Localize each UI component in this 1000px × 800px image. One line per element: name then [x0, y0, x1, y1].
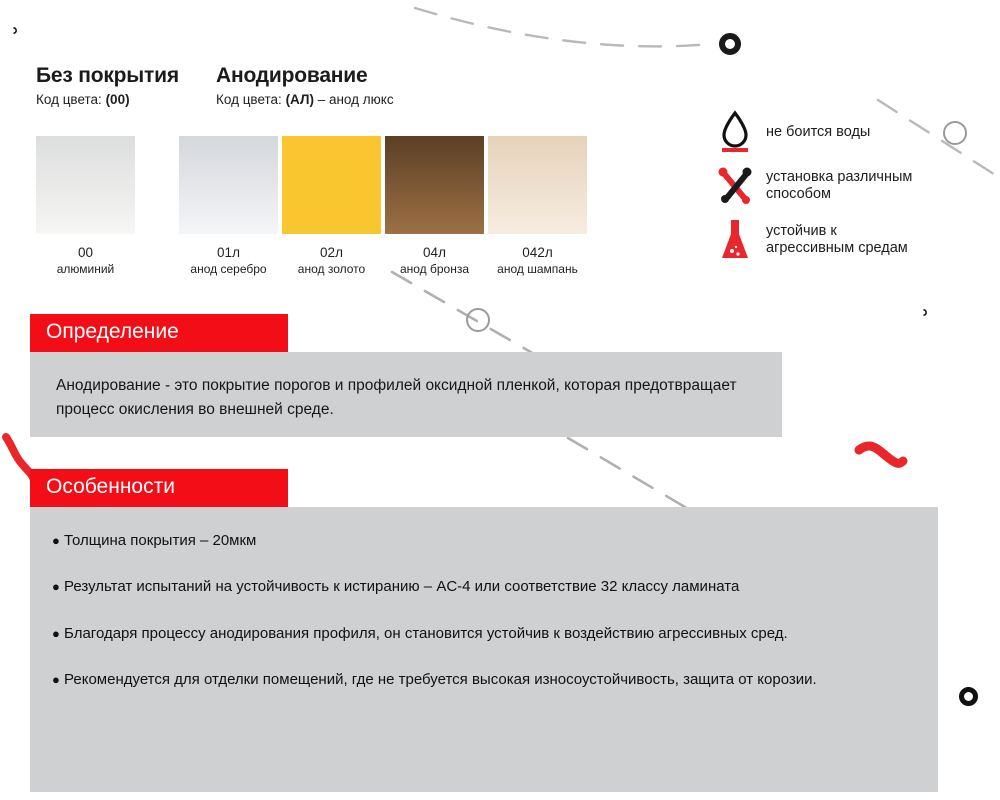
water-drop-icon [712, 110, 758, 154]
feature-bullet-text: Результат испытаний на устойчивость к ис… [64, 578, 739, 595]
swatch-code: 00 [36, 245, 135, 262]
swatch-name: алюминий [36, 262, 135, 278]
page-title-uncoated: Без покрытия [36, 64, 216, 88]
swatch-item[interactable]: 02л анод золото [282, 136, 381, 277]
decor-ring-bottom-right [959, 687, 978, 706]
infographic-page: ʾ ʾ Без покрытия Код цвета: (00) Анодиро… [0, 0, 1000, 800]
feature-bullet: ● Благодаря процессу анодирования профил… [52, 622, 916, 646]
swatch-chip-00[interactable] [36, 136, 135, 234]
swatch-name: анод бронза [385, 262, 484, 278]
feature-label: не боится воды [758, 124, 870, 141]
color-code-anodized: Код цвета: (АЛ) – анод люкс [216, 92, 636, 107]
bullet-icon: ● [52, 626, 60, 641]
swatch-item[interactable]: 042л анод шампань [488, 136, 587, 277]
dashed-curve-top [415, 8, 712, 46]
decor-ring-top-right [719, 33, 741, 55]
swatch-row: 00 алюминий 01л анод серебро 02л анод зо… [36, 136, 591, 277]
swatch-code: 02л [282, 245, 381, 262]
dashed-line-lower [568, 438, 690, 510]
tools-icon [712, 166, 758, 206]
swatch-name: анод серебро [179, 262, 278, 278]
feature-bullet-text: Благодаря процессу анодирования профиля,… [64, 625, 788, 642]
swatch-item[interactable]: 01л анод серебро [179, 136, 278, 277]
feature-bullet-text: Толщина покрытия – 20мкм [64, 532, 256, 549]
flask-icon [712, 218, 758, 262]
feature-label: установка различнымспособом [758, 169, 912, 202]
color-code-suffix-anodized: – анод люкс [314, 92, 394, 107]
swatch-item[interactable]: 00 алюминий [36, 136, 135, 277]
decor-ring-middle [466, 308, 490, 332]
color-code-label-anodized: Код цвета: [216, 92, 286, 107]
headings-row: Без покрытия Код цвета: (00) Анодировани… [36, 64, 636, 107]
color-code-label-uncoated: Код цвета: [36, 92, 106, 107]
swatch-chip-02l[interactable] [282, 136, 381, 234]
feature-bullet: ● Рекомендуется для отделки помещений, г… [52, 668, 916, 692]
feature-label: устойчив кагрессивным средам [758, 223, 908, 256]
swatch-code: 042л [488, 245, 587, 262]
swatch-group-uncoated: 00 алюминий [36, 136, 139, 277]
features-panel: ● Толщина покрытия – 20мкм ● Результат и… [30, 507, 938, 792]
swatch-group-anodized: 01л анод серебро 02л анод золото 04л ано… [179, 136, 591, 277]
swatch-code: 04л [385, 245, 484, 262]
feature-item-water: не боится воды [712, 110, 992, 154]
swatch-chip-042l[interactable] [488, 136, 587, 234]
swatch-chip-04l[interactable] [385, 136, 484, 234]
swatch-chip-01l[interactable] [179, 136, 278, 234]
color-code-value-uncoated: (00) [106, 92, 130, 107]
section-tab-definition: Определение [30, 314, 288, 352]
definition-text: Анодирование - это покрытие порогов и пр… [56, 374, 756, 422]
swatch-name: анод золото [282, 262, 381, 278]
color-code-uncoated: Код цвета: (00) [36, 92, 216, 107]
decor-hook-top-left: ʾ [12, 26, 20, 52]
bullet-icon: ● [52, 579, 60, 594]
heading-group-uncoated: Без покрытия Код цвета: (00) [36, 64, 216, 107]
feature-list: не боится воды установка различнымспособ… [712, 110, 992, 272]
feature-item-installation: установка различнымспособом [712, 164, 992, 208]
bullet-icon: ● [52, 672, 60, 687]
feature-bullet: ● Результат испытаний на устойчивость к … [52, 575, 916, 599]
bullet-icon: ● [52, 533, 60, 548]
swatch-code: 01л [179, 245, 278, 262]
feature-bullet-text: Рекомендуется для отделки помещений, где… [64, 671, 817, 688]
definition-panel: Анодирование - это покрытие порогов и пр… [30, 352, 782, 437]
color-code-value-anodized: (АЛ) [286, 92, 314, 107]
decor-hook-right: ʾ [922, 308, 930, 334]
section-tab-features: Особенности [30, 469, 288, 507]
feature-bullet: ● Толщина покрытия – 20мкм [52, 529, 916, 553]
page-title-anodized: Анодирование [216, 64, 636, 88]
red-squiggle-right [859, 446, 903, 463]
feature-item-chemical: устойчив кагрессивным средам [712, 218, 992, 262]
heading-group-anodized: Анодирование Код цвета: (АЛ) – анод люкс [216, 64, 636, 107]
swatch-item[interactable]: 04л анод бронза [385, 136, 484, 277]
swatch-name: анод шампань [488, 262, 587, 278]
